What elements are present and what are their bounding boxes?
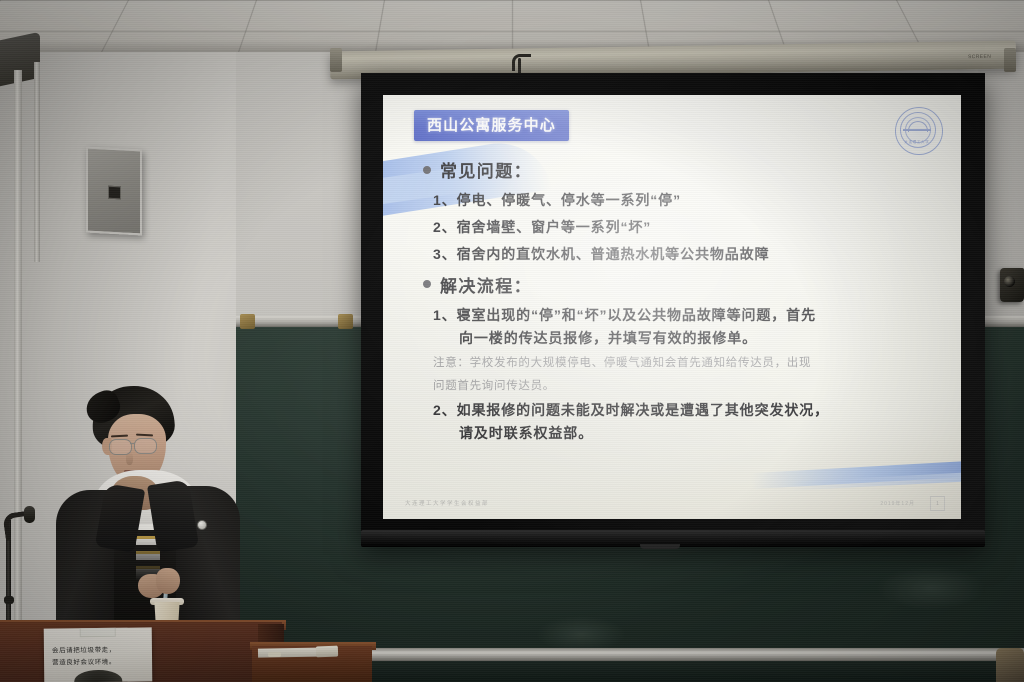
sign-line-1: 会后请把垃圾带走， bbox=[52, 643, 146, 654]
slide-item-continued: 请及时联系权益部。 bbox=[459, 424, 933, 443]
slide-item: 1、寝室出现的“停”和“坏”以及公共物品故障等问题，首先 bbox=[433, 306, 933, 325]
sign-shadow bbox=[74, 670, 122, 682]
classroom-photo-scene: SCREEN 西山公寓服务中心 大连理工大学 常见问题： 1、停电、停暖气、停水… bbox=[0, 0, 1024, 682]
microphone-head-icon bbox=[24, 506, 35, 523]
glasses-bridge bbox=[130, 443, 135, 444]
slide-footer-date: 2019年12月 bbox=[880, 500, 915, 507]
slide-note-line: 问题首先询问传达员。 bbox=[433, 378, 933, 396]
slide-heading-1-text: 常见问题： bbox=[440, 157, 532, 182]
slide-title: 西山公寓服务中心 bbox=[427, 117, 556, 134]
screen-pull-notch[interactable] bbox=[640, 544, 680, 549]
wall-control-panel[interactable] bbox=[86, 147, 142, 236]
roller-end-right bbox=[1004, 48, 1016, 72]
jacket-pin-icon bbox=[197, 520, 207, 530]
screen-cord-bend bbox=[512, 54, 531, 71]
bullet-dot-icon bbox=[423, 280, 431, 288]
bullet-dot-icon bbox=[423, 166, 431, 174]
university-seal-icon: 大连理工大学 bbox=[895, 107, 943, 155]
chalk-eraser bbox=[316, 646, 338, 658]
slide-heading-1: 常见问题： bbox=[423, 157, 933, 182]
camera-lens-icon bbox=[1004, 276, 1015, 287]
slide-item: 3、宿舍内的直饮水机、普通热水机等公共物品故障 bbox=[433, 245, 933, 264]
panel-button-icon bbox=[108, 186, 121, 200]
slide-title-badge: 西山公寓服务中心 bbox=[414, 110, 569, 141]
podium-notice-sign: 会后请把垃圾带走， 营造良好会议环境。 bbox=[44, 627, 153, 682]
slide-heading-2-text: 解决流程： bbox=[440, 272, 532, 297]
seal-bar bbox=[903, 129, 931, 131]
slide-body: 常见问题： 1、停电、停暖气、停水等一系列“停” 2、宿舍墙壁、窗户等一系列“坏… bbox=[423, 157, 933, 451]
chalk-piece bbox=[268, 652, 281, 657]
chalkboard-clip-mid bbox=[338, 314, 353, 329]
slide-page-number: 1 bbox=[930, 496, 945, 511]
roller-end-left bbox=[330, 48, 342, 72]
slide-footer-left: 大连理工大学学生会权益部 bbox=[405, 499, 489, 507]
slide-item: 1、停电、停暖气、停水等一系列“停” bbox=[433, 191, 933, 210]
student-presenter bbox=[56, 386, 240, 648]
slide-item: 2、宿舍墙壁、窗户等一系列“坏” bbox=[433, 218, 933, 237]
sign-line-2: 营造良好会议环境。 bbox=[52, 655, 146, 666]
tape-strip bbox=[80, 627, 116, 637]
nose bbox=[126, 452, 133, 465]
wall-pipe bbox=[14, 70, 22, 630]
wall-pipe-secondary bbox=[34, 62, 40, 262]
slide-item: 2、如果报修的问题未能及时解决或是遭遇了其他突发状况， bbox=[433, 401, 933, 420]
slide-item-continued: 向一楼的传达员报修，并填写有效的报修单。 bbox=[459, 329, 933, 348]
glasses-lens-right bbox=[134, 438, 157, 454]
corner-object bbox=[996, 648, 1024, 682]
chalkboard-clip-left bbox=[240, 314, 255, 329]
roller-brand-label: SCREEN bbox=[968, 54, 991, 60]
projected-slide: 西山公寓服务中心 大连理工大学 常见问题： 1、停电、停暖气、停水等一系列“停”… bbox=[383, 95, 961, 519]
seal-label: 大连理工大学 bbox=[896, 139, 938, 144]
slide-note-line: 注意：学校发布的大规模停电、停暖气通知会首先通知给传达员，出现 bbox=[433, 355, 933, 373]
slide-heading-2: 解决流程： bbox=[423, 272, 933, 297]
microphone-knob[interactable] bbox=[4, 596, 14, 604]
hand-right bbox=[156, 568, 180, 594]
